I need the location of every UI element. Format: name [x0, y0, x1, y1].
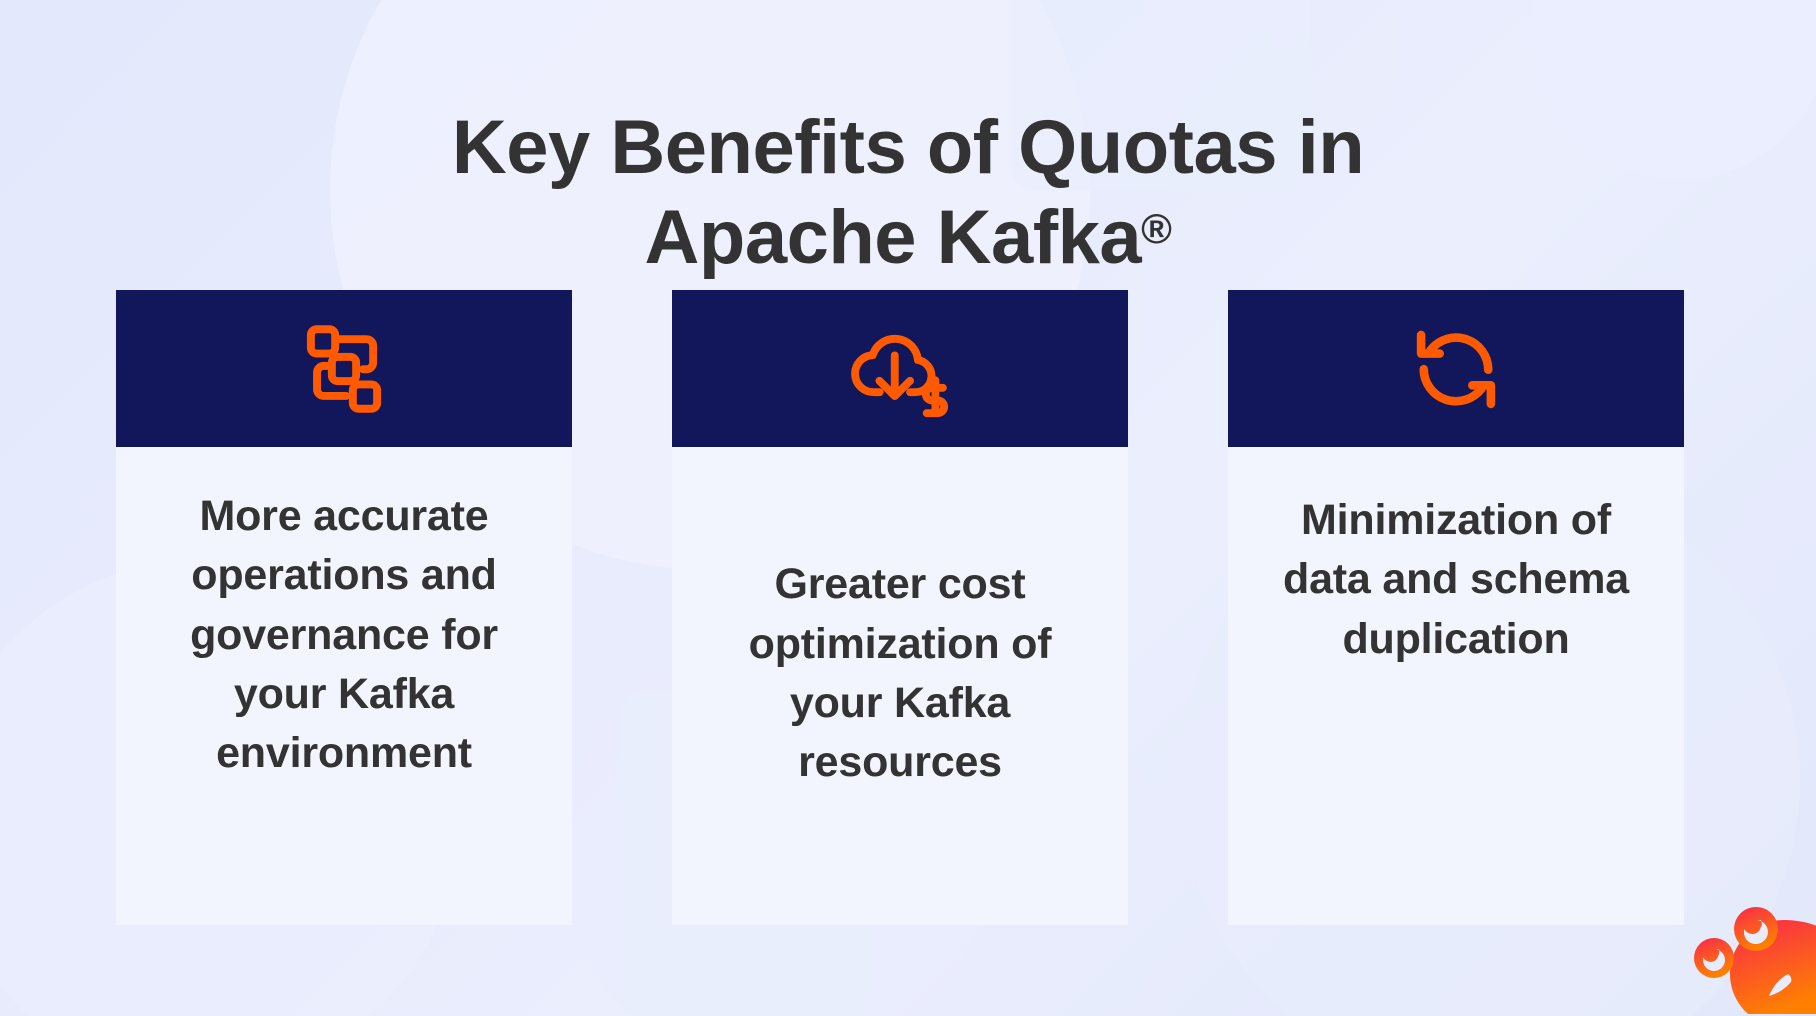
card-icon-header [672, 290, 1128, 447]
card-body: Minimization of data and schema duplicat… [1228, 447, 1684, 925]
network-topology-icon [291, 316, 397, 422]
benefit-card: Minimization of data and schema duplicat… [1228, 290, 1684, 925]
card-body: Greater cost optimization of your Kafka … [672, 447, 1128, 925]
infographic-canvas: Key Benefits of Quotas inApache Kafka® M… [0, 0, 1816, 1016]
card-icon-header [116, 290, 572, 447]
sync-refresh-icon [1402, 316, 1510, 422]
benefit-card: Greater cost optimization of your Kafka … [672, 290, 1128, 925]
page-title-line-1: Key Benefits of Quotas in [452, 105, 1364, 190]
card-body: More accurate operations and governance … [116, 447, 572, 925]
benefit-card: More accurate operations and governance … [116, 290, 572, 925]
card-text: More accurate operations and governance … [142, 487, 546, 784]
page-title-line-2: Apache Kafka [645, 195, 1142, 280]
card-text: Minimization of data and schema duplicat… [1254, 491, 1658, 669]
cloud-download-cost-icon [841, 316, 959, 422]
registered-trademark-symbol: ® [1141, 205, 1171, 252]
card-text: Greater cost optimization of your Kafka … [698, 555, 1102, 792]
card-icon-header [1228, 290, 1684, 447]
page-title: Key Benefits of Quotas inApache Kafka® [0, 103, 1816, 282]
benefit-card-list: More accurate operations and governance … [116, 290, 1684, 925]
